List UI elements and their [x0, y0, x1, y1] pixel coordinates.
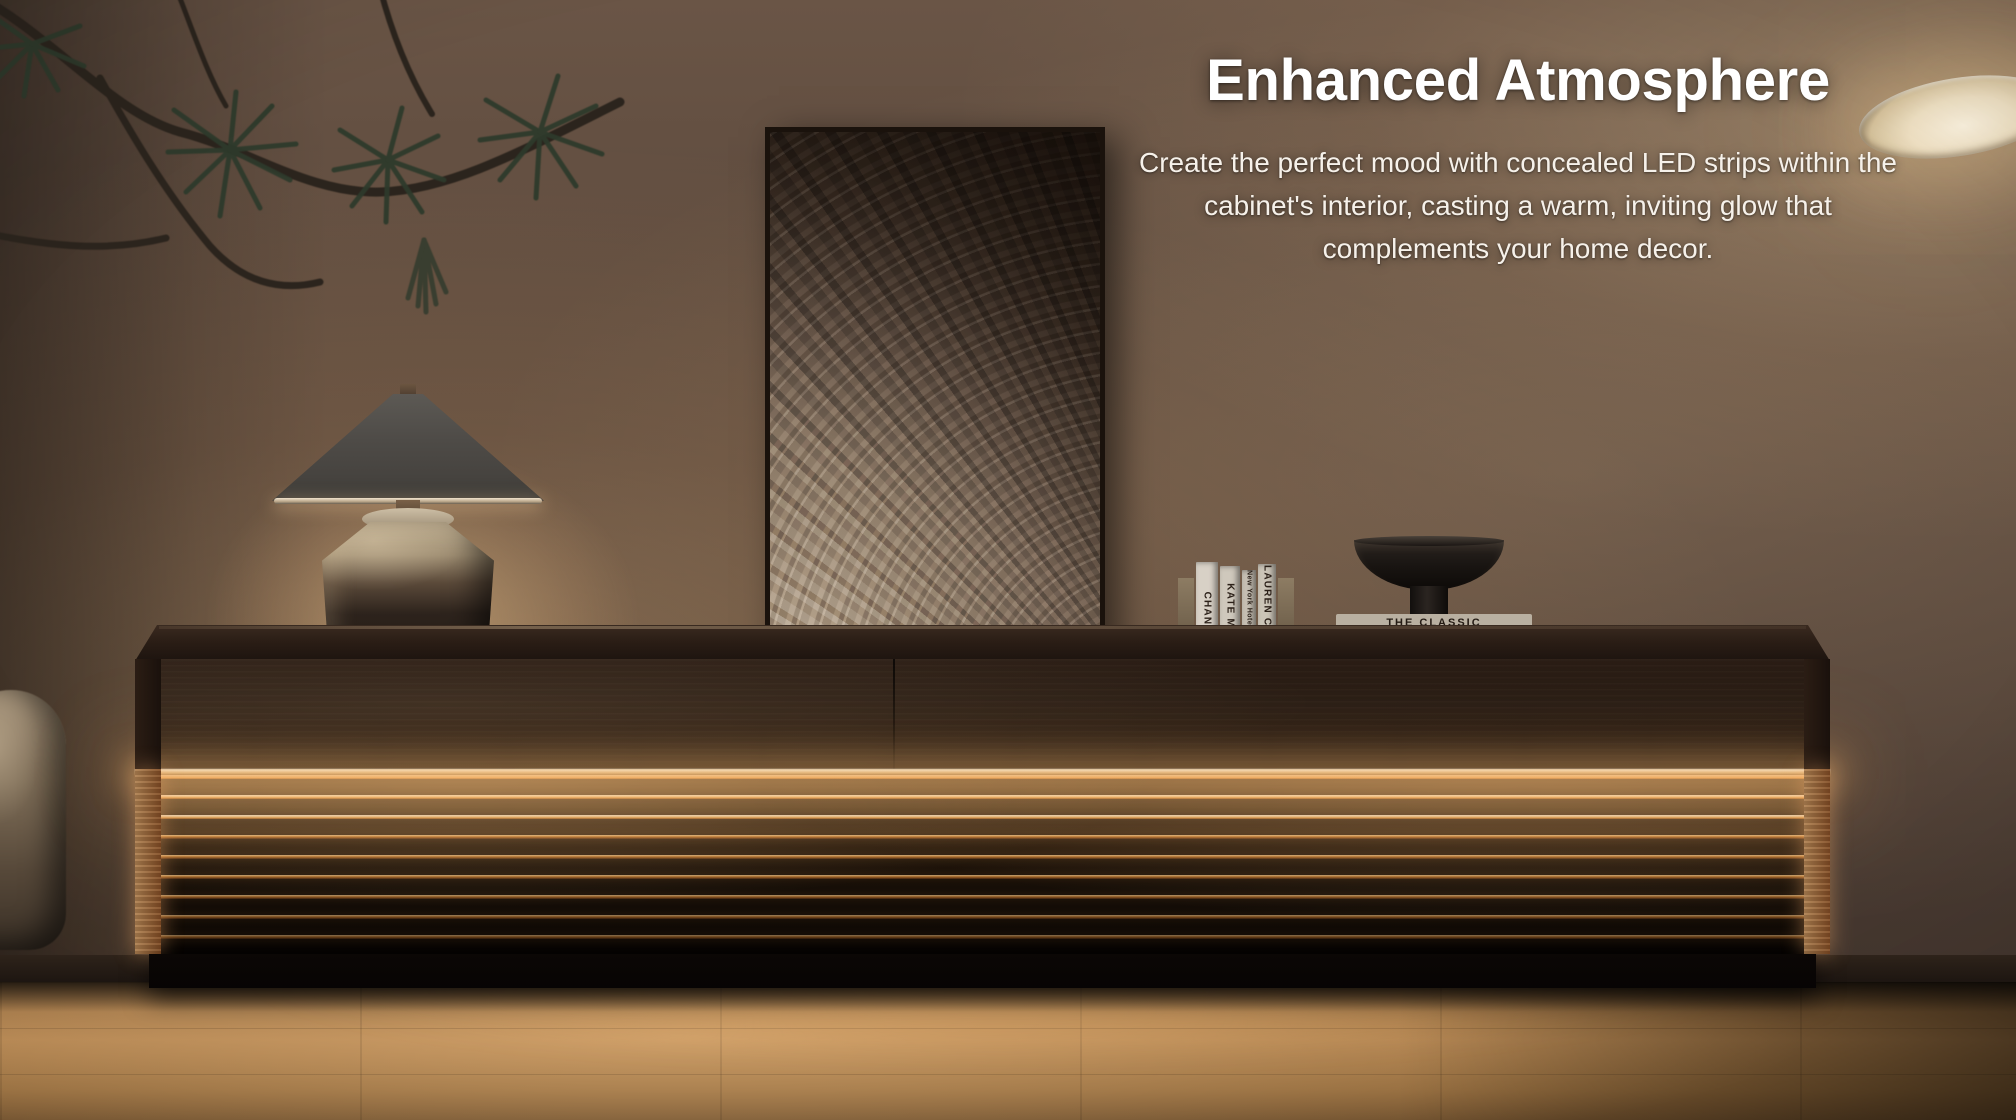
cabinet-slat — [135, 815, 1830, 819]
pedestal-bowl — [1354, 540, 1504, 618]
wood-grain-texture — [135, 659, 1830, 769]
lamp-shade — [272, 394, 544, 504]
dried-branch-wall-decor — [0, 0, 640, 342]
cabinet-drawer-fronts — [135, 659, 1830, 769]
floor-vase — [0, 690, 66, 950]
cabinet-slat — [135, 835, 1830, 839]
framed-artwork — [765, 127, 1105, 665]
concealed-led-strip — [135, 769, 1830, 777]
cabinet-slat — [135, 895, 1830, 899]
cabinet-top-highlight — [159, 626, 1807, 629]
cabinet-right-post-lit — [1804, 769, 1830, 954]
page-description: Create the perfect mood with concealed L… — [1118, 141, 1918, 271]
artwork-canvas — [770, 132, 1100, 660]
marketing-copy: Enhanced Atmosphere Create the perfect m… — [1078, 50, 1958, 271]
drawer-seam — [893, 659, 895, 769]
cabinet-slat — [135, 855, 1830, 859]
product-feature-banner: CHANELKATE MOSSNew York Hotels YearbookL… — [0, 0, 2016, 1120]
artwork-lighting — [770, 132, 1100, 660]
bowl-cup — [1354, 540, 1504, 590]
artwork-texture — [770, 132, 1100, 660]
cabinet-top-surface — [135, 625, 1830, 661]
cabinet-slat — [135, 915, 1830, 919]
cabinet-plinth — [149, 954, 1816, 988]
page-title: Enhanced Atmosphere — [1078, 50, 1958, 113]
fluted-slat-panel — [135, 769, 1830, 954]
cabinet-slat — [135, 935, 1830, 939]
cabinet-left-post-lit — [135, 769, 161, 954]
cabinet-slat — [135, 875, 1830, 879]
media-cabinet — [135, 625, 1830, 1025]
cabinet-slat — [135, 795, 1830, 799]
